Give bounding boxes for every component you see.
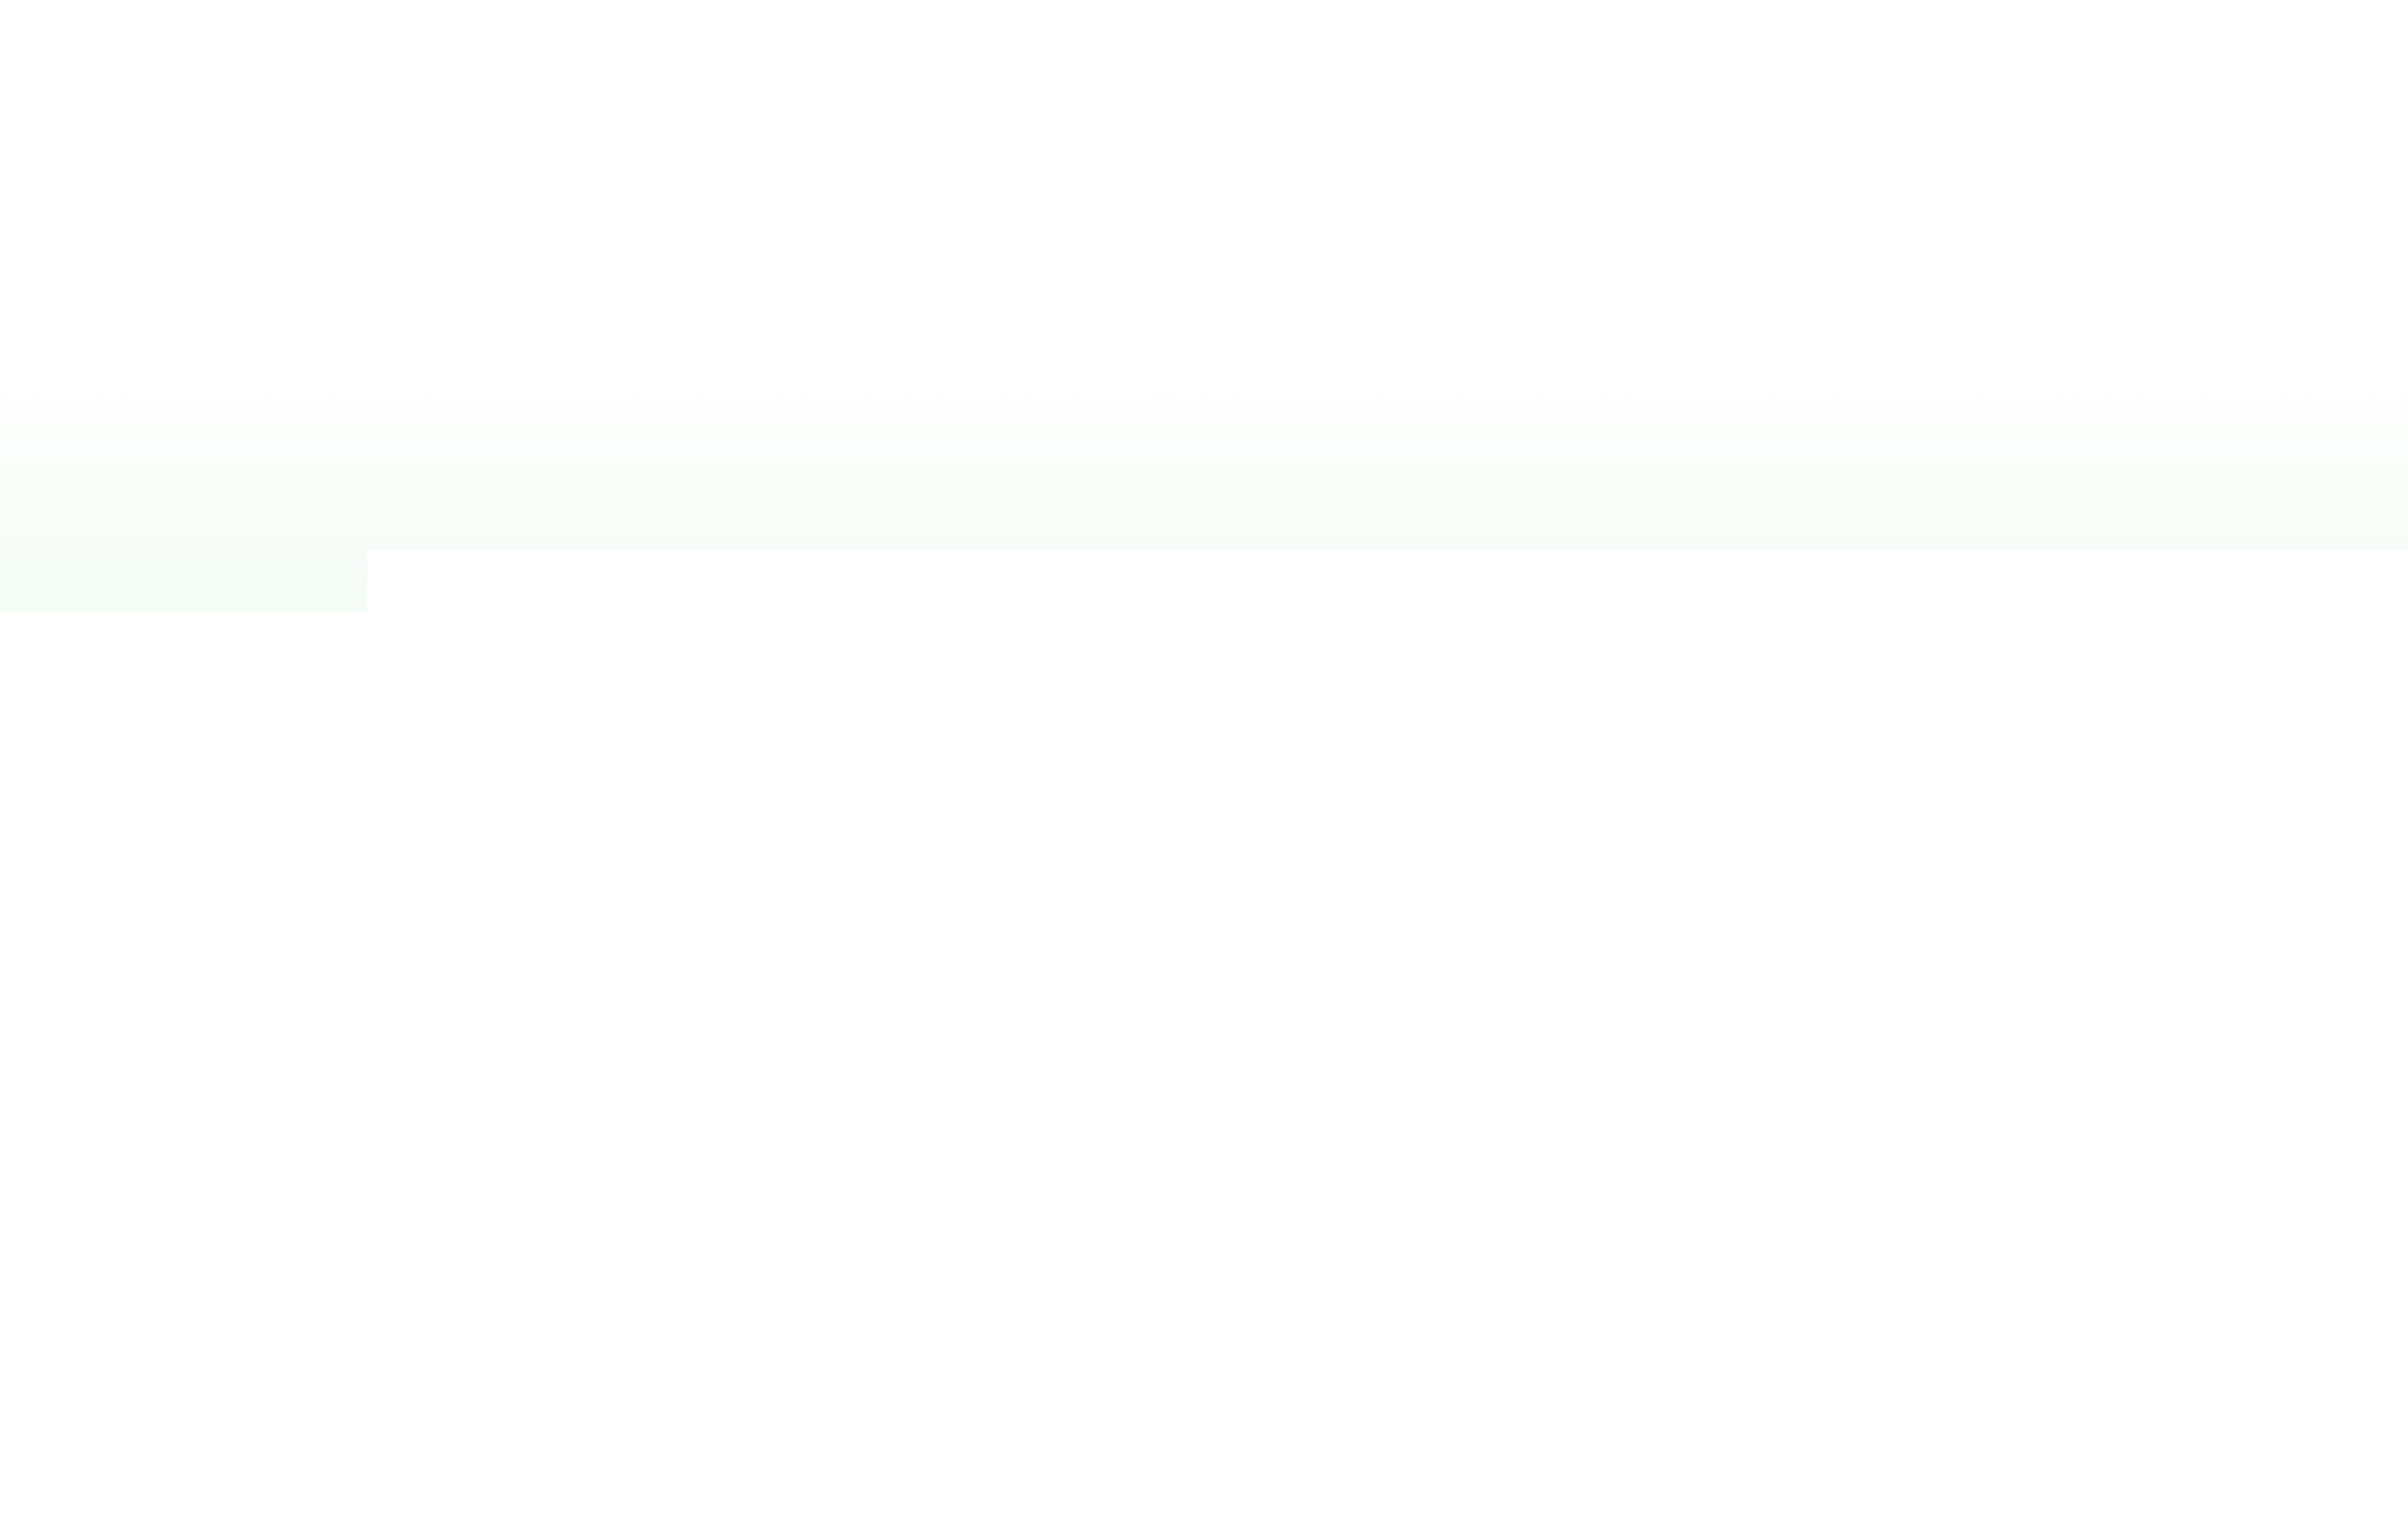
page-title: 社 会 主 义 核 心 价 值 观 xyxy=(862,212,2408,356)
seal-inner-line-2: 盱眙 xyxy=(247,237,392,314)
title-char-8: 值 xyxy=(2229,216,2358,353)
core-values-row-3: 爱国 敬业 诚信 友善 xyxy=(708,1026,2408,1245)
core-value-word: 平等 xyxy=(1103,784,1434,943)
title-char-2: 会 xyxy=(1061,216,1190,353)
core-value-word: 法治 xyxy=(1893,784,2224,943)
core-value-word: 敬业 xyxy=(1103,1056,1434,1215)
core-value-word: 和谐 xyxy=(1893,512,2224,671)
core-value-word: 民主 xyxy=(1103,512,1434,671)
core-value-word: 诚信 xyxy=(1498,1056,1829,1215)
civic-values-banner: 文 明 之 城 善道 盱眙 wén míng zhī chéng 社 会 主 义… xyxy=(0,0,2408,1526)
core-value-word: 友善 xyxy=(1893,1056,2224,1215)
core-value-word: 富强 xyxy=(708,512,1039,671)
core-value-word: 爱国 xyxy=(708,1056,1039,1215)
core-values-list: 富强 民主 文明 和谐 自由 平等 公正 法治 爱国 敬业 诚信 友善 xyxy=(708,482,2408,1298)
core-value-word: 自由 xyxy=(708,784,1039,943)
seal-artwork: 文 明 之 城 善道 盱眙 wén míng zhī chéng xyxy=(177,102,461,386)
seal-inner-line-1: 善道 xyxy=(247,167,392,244)
title-char-3: 主 xyxy=(1256,216,1385,353)
city-seal-logo[interactable]: 文 明 之 城 善道 盱眙 wén míng zhī chéng xyxy=(177,102,461,386)
title-char-5: 核 xyxy=(1645,216,1774,353)
title-char-7: 价 xyxy=(2035,216,2164,353)
core-values-row-1: 富强 民主 文明 和谐 xyxy=(708,482,2408,701)
title-char-1: 社 xyxy=(866,216,995,353)
core-values-row-2: 自由 平等 公正 法治 xyxy=(708,754,2408,973)
title-char-6: 心 xyxy=(1840,216,1969,353)
title-char-4: 义 xyxy=(1451,216,1580,353)
core-value-word: 公正 xyxy=(1498,784,1829,943)
core-value-word: 文明 xyxy=(1498,512,1829,671)
